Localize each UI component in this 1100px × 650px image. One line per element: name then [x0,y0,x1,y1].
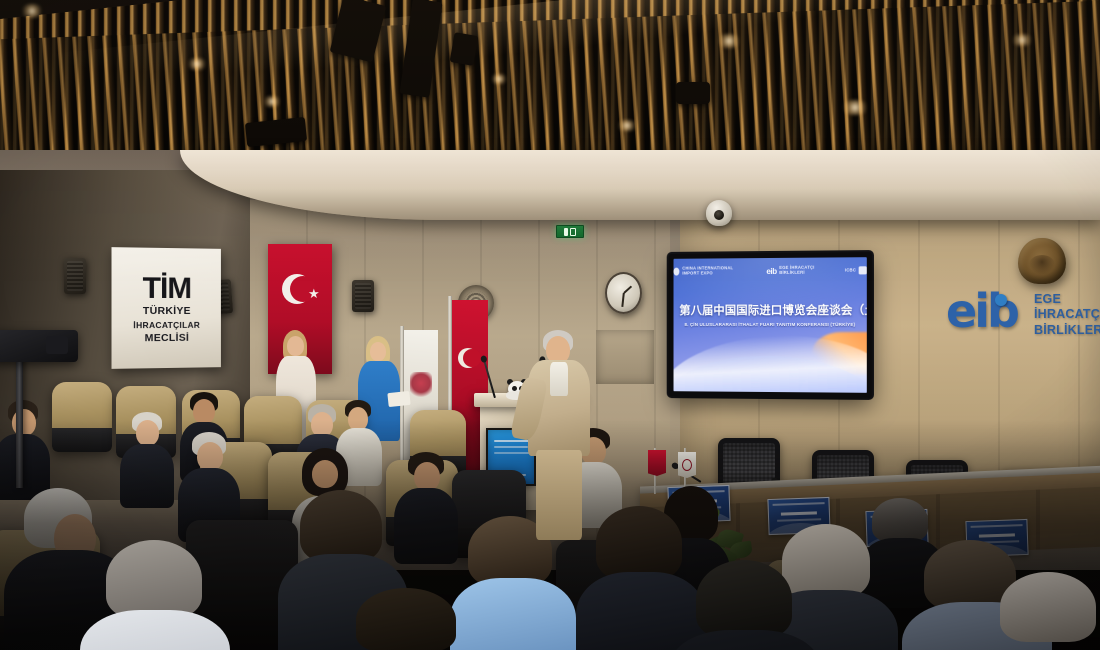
head [312,460,338,488]
hair [1000,572,1096,642]
held-paper [387,391,410,407]
main-display: CHINA INTERNATIONAL IMPORT EXPO eib EGE … [669,252,872,398]
eib-logo: eib EGE İHRACATÇI BİRLİKLERİ [766,266,827,276]
name-card-subtitle [777,518,821,522]
torso [576,572,706,650]
eib-wall-logo-text: EGE İHRACATÇI BİRLİKLERİ [1034,292,1100,338]
icbc-mark-icon [859,266,867,274]
screen-title-chinese: 第八届中国国际进口博览会座谈会（土耳其） [679,305,860,318]
ceiling-spotlight [262,96,282,107]
head [370,342,386,361]
flag-emblem-icon [410,372,432,400]
legs [536,450,582,540]
crescent-icon [458,348,478,368]
conference-hall-photo: TİM TÜRKİYE İHRACATÇILAR MECLİSİ ★ CHINA… [0,0,1100,650]
tim-line-2: İHRACATÇILAR [133,319,200,332]
eib-logo-sub: EGE İHRACATÇI BİRLİKLERİ [779,266,827,276]
tim-line-3: MECLİSİ [145,331,189,347]
name-card-name [781,511,817,515]
hair [596,506,682,580]
ceiling-light-rig [450,32,479,66]
ceiling-spotlight [716,34,742,48]
tim-line-1: TÜRKİYE [143,304,191,319]
star-icon: ★ [308,287,320,300]
wall-speaker [64,258,86,294]
table-flag-white [678,452,696,478]
ceiling-camera [706,200,732,226]
eib-wall-logo-mark: eib [946,288,1017,334]
hair [300,490,382,562]
icbc-logo-label: ICBC [845,268,856,273]
screen-title-block: 第八届中国国际进口博览会座谈会（土耳其） 8. ÇİN ULUSLARARASI… [674,305,867,327]
table-flag-turkish [648,450,666,476]
scene-caption: A man in a light beige suit speaks at a … [0,0,1,1]
ceiling-spotlight [840,100,870,115]
ciie-logo-label: CHINA INTERNATIONAL IMPORT EXPO [682,266,749,276]
tim-logo: TİM [143,273,191,303]
head [287,336,304,356]
ciie-logo: CHINA INTERNATIONAL IMPORT EXPO [674,266,750,276]
hair [106,540,202,618]
head [414,462,440,491]
shirt [550,362,568,396]
wall-speaker [352,280,374,312]
exit-running-man-icon [564,228,568,236]
ceiling-projector [676,82,710,104]
exit-door-icon [570,228,576,236]
ceiling-spotlight [490,74,508,84]
name-card-header [971,524,1023,528]
torso [450,578,576,650]
eib-dot-icon [995,294,1007,306]
hair [696,560,792,638]
eib-line-3: BİRLİKLERİ [1034,323,1100,338]
ceiling-spotlight [616,120,638,131]
tim-banner: TİM TÜRKİYE İHRACATÇILAR MECLİSİ [112,247,221,369]
ceiling-spotlight [1010,34,1034,46]
eib-wall-logo: eib EGE İHRACATÇI BİRLİKLERİ [946,274,1096,350]
wall-plaque [596,330,654,384]
podium-display-line [494,440,532,442]
audience-seat [52,382,112,452]
camera-tripod [16,348,23,488]
ceiling-spotlight [186,58,208,70]
hair [356,588,456,650]
podium-display-line [494,452,530,454]
name-card-header [773,502,825,506]
video-camera [0,330,78,362]
ceiling-spotlight [20,4,44,18]
eib-line-1: EGE [1034,292,1100,307]
exit-sign [556,225,584,238]
hair [872,498,928,542]
display-screen: CHINA INTERNATIONAL IMPORT EXPO eib EGE … [674,257,867,393]
flag-emblem-icon [682,459,692,471]
clock-minute-hand [621,293,624,307]
name-card-name [979,533,1015,537]
head [193,399,215,424]
torso [120,444,174,508]
screen-logo-row: CHINA INTERNATIONAL IMPORT EXPO eib EGE … [674,264,867,277]
screen-title-turkish: 8. ÇİN ULUSLARARASI İTHALAT FUARI TANITI… [679,322,860,327]
eib-line-2: İHRACATÇI [1034,307,1100,322]
eib-logo-label: eib [766,266,776,275]
torso [394,488,458,564]
ciie-mark-icon [674,268,680,276]
head [136,420,159,446]
hair [782,524,870,598]
podium-display-line [494,446,528,448]
wall-clock [605,272,642,314]
ceiling-soffit [180,150,1100,220]
head [197,442,223,471]
icbc-logo: ICBC [845,266,867,274]
